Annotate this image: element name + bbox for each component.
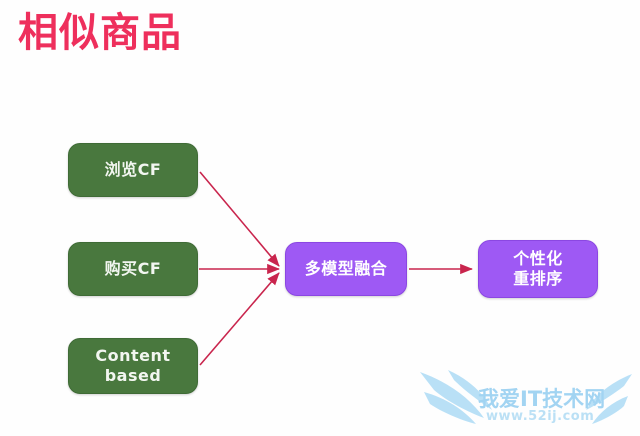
page-title: 相似商品	[18, 9, 182, 57]
node-browse-cf[interactable]: 浏览CF	[68, 143, 198, 197]
node-browse-cf-label: 浏览CF	[105, 160, 162, 180]
node-purchase-cf[interactable]: 购买CF	[68, 242, 198, 296]
node-multi-model-fusion-label: 多模型融合	[305, 259, 388, 279]
node-content-based-label-line-2: based	[95, 366, 170, 386]
node-personalized-rerank[interactable]: 个性化 重排序	[478, 240, 598, 298]
watermark-wings-icon	[418, 368, 634, 434]
watermark-brand: 我爱IT技术网	[478, 383, 605, 413]
node-content-based[interactable]: Content based	[68, 338, 198, 394]
node-purchase-cf-label: 购买CF	[105, 259, 162, 279]
node-multi-model-fusion[interactable]: 多模型融合	[285, 242, 407, 296]
node-personalized-rerank-label-line-2: 重排序	[513, 269, 563, 289]
node-personalized-rerank-label-line-1: 个性化	[513, 249, 563, 269]
edge-content-to-fusion	[200, 273, 279, 365]
node-personalized-rerank-label: 个性化 重排序	[513, 249, 563, 289]
watermark: 我爱IT技术网 www.52ij.com	[418, 368, 634, 434]
node-content-based-label-line-1: Content	[95, 346, 170, 366]
node-content-based-label: Content based	[95, 346, 170, 386]
edge-browse-cf-to-fusion	[200, 172, 279, 266]
diagram-canvas: 相似商品 浏览CF 购买CF Content based 多模型融合	[0, 0, 640, 436]
watermark-url: www.52ij.com	[486, 409, 594, 424]
